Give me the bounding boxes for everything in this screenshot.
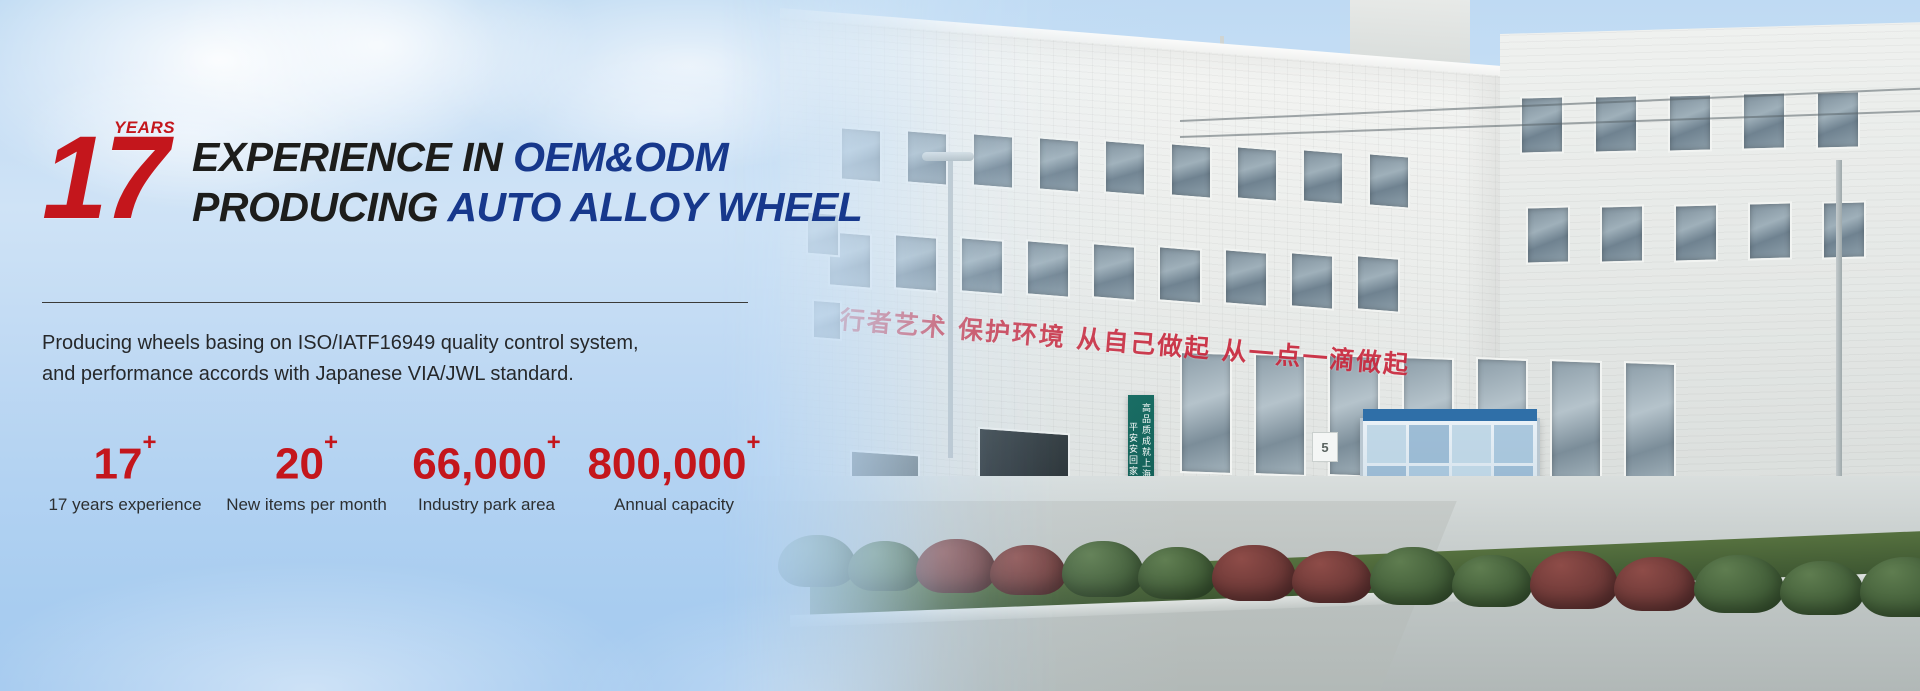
- building-window: [1668, 93, 1712, 152]
- building-window: [1748, 202, 1792, 261]
- building-window: [1170, 142, 1212, 199]
- building-window: [1742, 92, 1786, 151]
- board-panel: [1494, 425, 1533, 463]
- hedge-bush: [1780, 561, 1864, 615]
- lamp-head: [922, 152, 974, 161]
- stat-label: Annual capacity: [584, 493, 764, 517]
- building-window: [1180, 351, 1232, 475]
- building-window: [972, 133, 1014, 190]
- building-window: [1104, 139, 1146, 196]
- hedge-bush: [1212, 545, 1296, 601]
- notice-board-header: [1363, 409, 1537, 421]
- stat-value: 17+: [46, 430, 204, 491]
- building-window: [1526, 205, 1570, 264]
- stat-label: Industry park area: [409, 493, 564, 517]
- building-window: [1600, 204, 1644, 263]
- hedge-bush: [990, 545, 1066, 595]
- building-window: [1550, 359, 1602, 483]
- board-panel: [1367, 425, 1406, 463]
- building-window: [1822, 201, 1866, 260]
- building-window: [1038, 136, 1080, 193]
- stat-suffix: +: [747, 429, 761, 456]
- board-panel: [1409, 425, 1448, 463]
- stat-item: 66,000+Industry park area: [399, 430, 574, 517]
- headline-line-2-blue: AUTO ALLOY WHEEL: [447, 184, 862, 230]
- board-panel: [1452, 425, 1491, 463]
- headline-line-1-blue: OEM&ODM: [513, 134, 728, 180]
- hedge-bush: [1370, 547, 1456, 605]
- hedge-bush: [1452, 555, 1532, 607]
- years-number: 17: [42, 126, 165, 230]
- building-window: [1302, 149, 1344, 206]
- hedge-bush: [1062, 541, 1144, 597]
- building-window: [1816, 91, 1860, 150]
- stat-item: 20+New items per month: [214, 430, 399, 517]
- headline-line-2: PRODUCING AUTO ALLOY WHEEL: [192, 182, 862, 232]
- building-window: [1368, 152, 1410, 209]
- hedge-bush: [1614, 557, 1696, 611]
- building-window: [1236, 145, 1278, 202]
- utility-pole: [1836, 160, 1842, 520]
- headline-line-1-dark: EXPERIENCE IN: [192, 134, 513, 180]
- building-window: [1624, 361, 1676, 485]
- stat-suffix: +: [142, 429, 156, 456]
- years-badge: YEARS 17: [42, 110, 182, 230]
- banner-content: YEARS 17 EXPERIENCE IN OEM&ODM PRODUCING…: [0, 0, 820, 691]
- hedge-bush: [1694, 555, 1784, 613]
- stat-suffix: +: [547, 429, 561, 456]
- stat-item: 17+17 years experience: [36, 430, 214, 517]
- stat-label: New items per month: [224, 493, 389, 517]
- factory-photo: 行者艺术 保护环境 从自己做起 从一点一滴做起 高品质成就上海品 平平安安回家来…: [660, 0, 1920, 691]
- promo-banner: 行者艺术 保护环境 从自己做起 从一点一滴做起 高品质成就上海品 平平安安回家来…: [0, 0, 1920, 691]
- stat-label: 17 years experience: [46, 493, 204, 517]
- building-window: [1674, 203, 1718, 262]
- building-window: [960, 236, 1004, 296]
- section-divider: [42, 302, 748, 303]
- building-window: [1092, 242, 1136, 302]
- hedge-bush: [1530, 551, 1618, 609]
- building-window: [1026, 239, 1070, 299]
- stat-value: 800,000+: [584, 430, 764, 491]
- lamp-post: [948, 158, 953, 458]
- headline-line-1: EXPERIENCE IN OEM&ODM: [192, 132, 862, 182]
- building-window: [1356, 254, 1400, 314]
- door-number-plate: 5: [1312, 432, 1338, 462]
- description-line-2: and performance accords with Japanese VI…: [42, 359, 639, 390]
- stat-suffix: +: [324, 429, 338, 456]
- headline-line-2-dark: PRODUCING: [192, 184, 447, 230]
- statistics-row: 17+17 years experience20+New items per m…: [36, 430, 774, 517]
- hedge-bush: [848, 541, 922, 591]
- hedge-bush: [1292, 551, 1372, 603]
- building-window: [1158, 245, 1202, 305]
- stat-value: 66,000+: [409, 430, 564, 491]
- stat-item: 800,000+Annual capacity: [574, 430, 774, 517]
- headline-block: YEARS 17 EXPERIENCE IN OEM&ODM PRODUCING…: [42, 110, 862, 232]
- building-window: [1290, 251, 1334, 311]
- headline-text: EXPERIENCE IN OEM&ODM PRODUCING AUTO ALL…: [192, 110, 862, 232]
- description-line-1: Producing wheels basing on ISO/IATF16949…: [42, 328, 639, 359]
- hedge-bush: [916, 539, 996, 593]
- building-window: [1224, 248, 1268, 308]
- building-window: [894, 233, 938, 293]
- roof-penthouse: [1350, 0, 1470, 63]
- stat-value: 20+: [224, 430, 389, 491]
- hedge-bush: [1138, 547, 1216, 599]
- description-text: Producing wheels basing on ISO/IATF16949…: [42, 328, 639, 390]
